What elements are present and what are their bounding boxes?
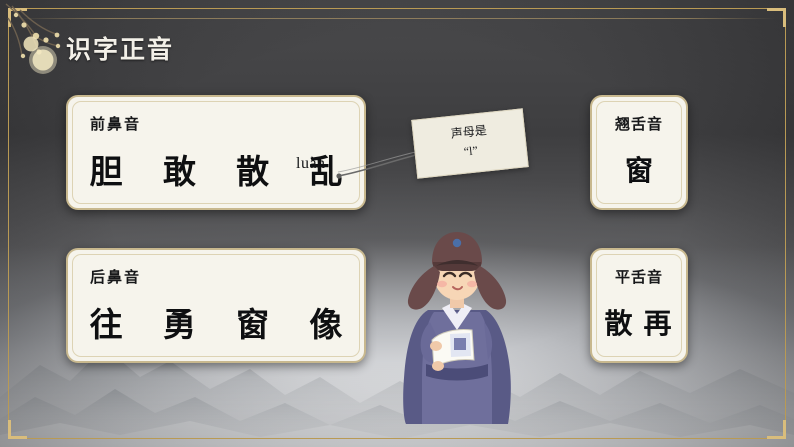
card-retroflex[interactable]: 翘舌音 窗	[590, 95, 688, 210]
card-back-nasal[interactable]: 后鼻音 往 勇 窗 像	[66, 248, 366, 363]
page-title: 识字正音	[66, 30, 174, 66]
title-bar: 识字正音	[0, 18, 794, 74]
card-retroflex-characters: 窗	[592, 149, 686, 189]
card-retroflex-label: 翘舌音	[592, 113, 686, 134]
card-back-nasal-label: 后鼻音	[90, 266, 141, 287]
card-dental-label: 平舌音	[592, 266, 686, 287]
ancient-scholar-boy-illustration	[392, 214, 522, 424]
card-dental-characters: 散 再	[592, 302, 686, 342]
card-back-nasal-characters: 往 勇 窗 像	[68, 298, 364, 346]
title-divider	[18, 18, 776, 19]
card-front-nasal-label: 前鼻音	[90, 113, 141, 134]
card-front-nasal[interactable]: 前鼻音 胆 敢 散 乱	[66, 95, 366, 210]
callout-leader-line-icon	[336, 150, 422, 180]
card-dental[interactable]: 平舌音 散 再	[590, 248, 688, 363]
pinyin-annotation: luàn	[296, 155, 326, 173]
callout-note: 声母是 “l”	[411, 108, 529, 178]
slide-root: 识字正音 前鼻音 胆 敢 散 乱 后鼻音 往 勇 窗 像 翘舌音 窗 平舌音 散…	[0, 0, 794, 447]
